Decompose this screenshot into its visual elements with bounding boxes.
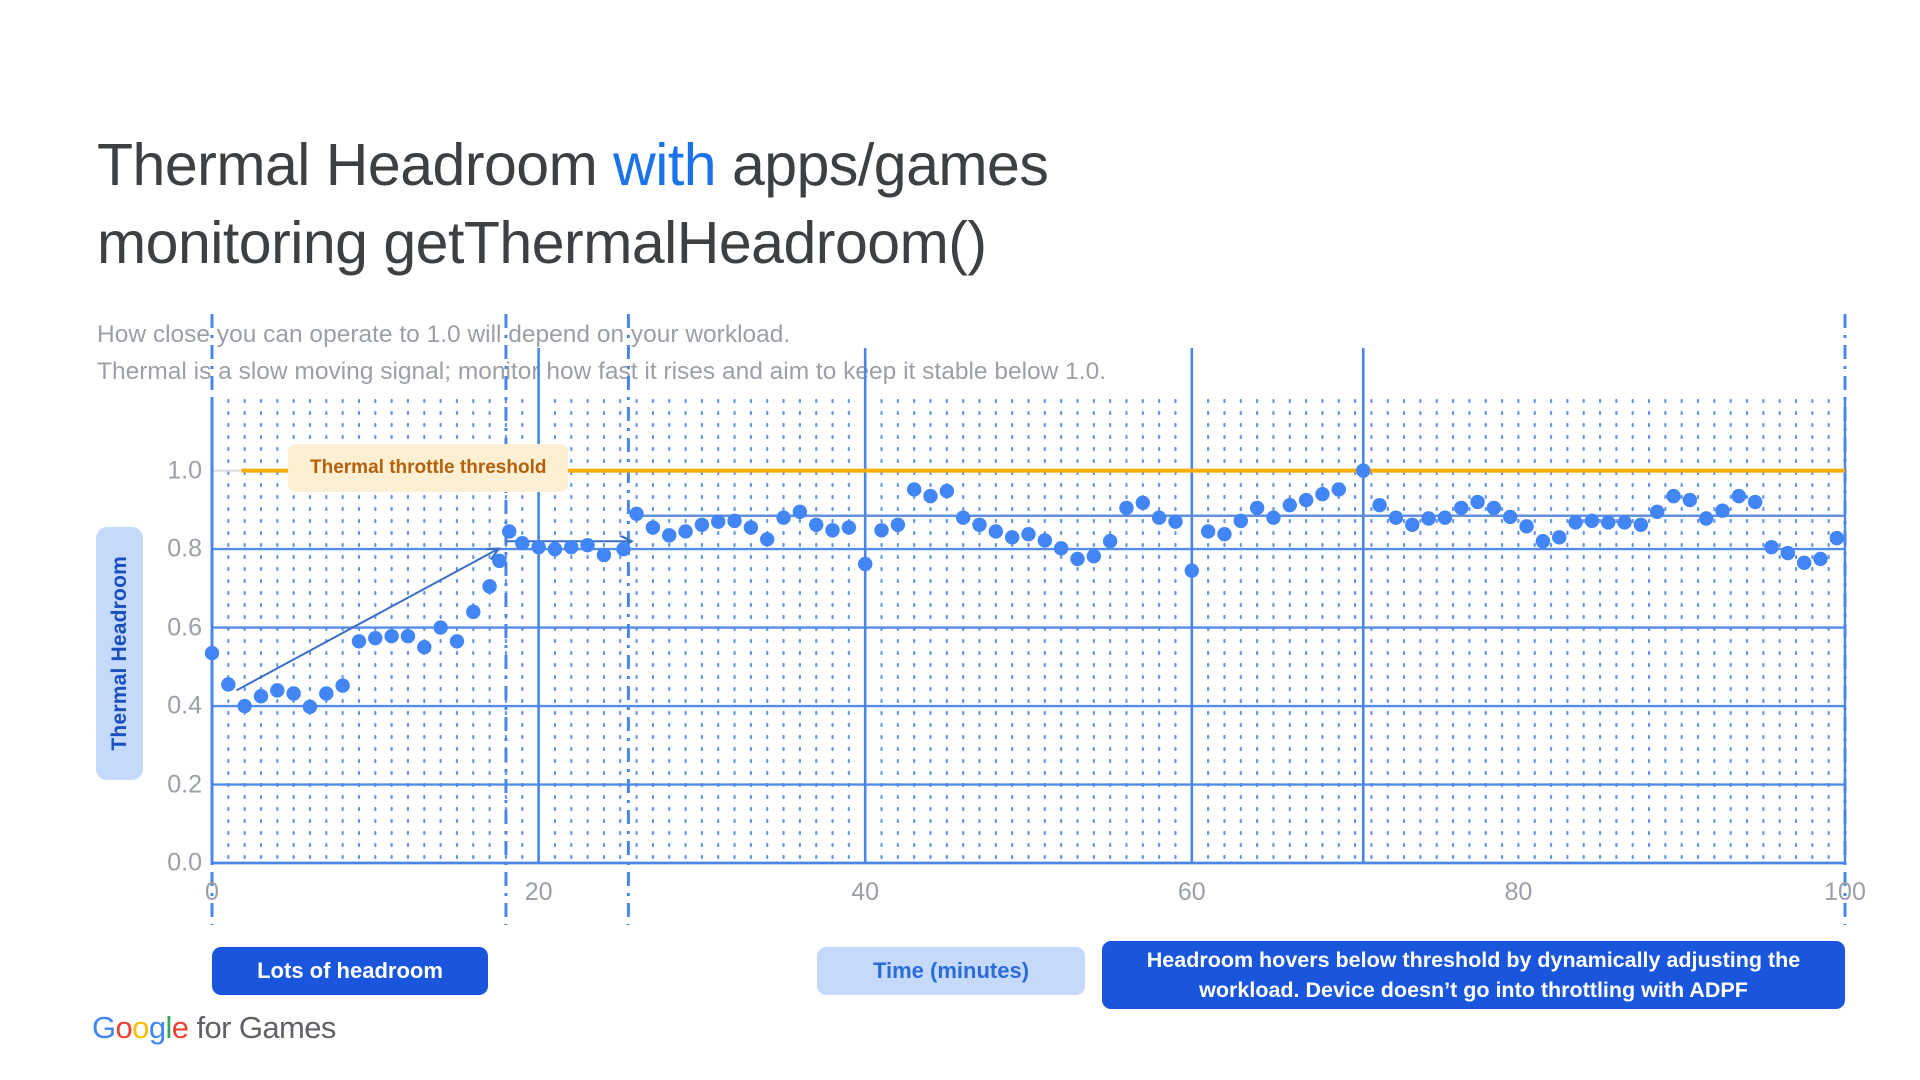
y-axis-tick-labels: 0.00.20.40.60.81.0 <box>130 400 202 863</box>
title-part1: Thermal Headroom <box>97 132 613 198</box>
x-axis-tick-20: 20 <box>525 878 553 907</box>
title-part2: apps/games <box>716 132 1048 198</box>
y-axis-tick-0.2: 0.2 <box>142 770 202 799</box>
subtitle-line-1: How close you can operate to 1.0 will de… <box>97 316 1106 353</box>
subtitle-line-2: Thermal is a slow moving signal; monitor… <box>97 353 1106 390</box>
callout-headroom-hovers: Headroom hovers below threshold by dynam… <box>1102 941 1845 1009</box>
x-axis-tick-60: 60 <box>1178 878 1206 907</box>
y-axis-tick-0.6: 0.6 <box>142 613 202 642</box>
x-axis-tick-labels: 020406080100 <box>212 878 1845 912</box>
logo-letter-e: e <box>172 1010 189 1045</box>
callout-left-text: Lots of headroom <box>257 958 443 984</box>
page-title: Thermal Headroom with apps/games monitor… <box>97 126 1297 282</box>
subtitle: How close you can operate to 1.0 will de… <box>97 316 1106 390</box>
callout-right-text: Headroom hovers below threshold by dynam… <box>1118 945 1829 1005</box>
title-accent: with <box>613 132 716 198</box>
x-axis-tick-0: 0 <box>205 878 219 907</box>
logo-letter-o1: o <box>116 1010 133 1045</box>
logo-letter-o2: o <box>132 1010 149 1045</box>
y-axis-label-text: Thermal Headroom <box>108 556 132 751</box>
y-axis-tick-1.0: 1.0 <box>142 456 202 485</box>
callout-lots-of-headroom: Lots of headroom <box>212 947 488 995</box>
google-for-games-logo: Google for Games <box>92 1010 336 1046</box>
y-axis-tick-0.8: 0.8 <box>142 535 202 564</box>
y-axis-tick-0.0: 0.0 <box>142 849 202 878</box>
logo-suffix: for Games <box>188 1010 335 1045</box>
x-axis-tick-80: 80 <box>1504 878 1532 907</box>
y-axis-tick-0.4: 0.4 <box>142 692 202 721</box>
x-axis-label-pill: Time (minutes) <box>817 947 1085 995</box>
x-axis-label-text: Time (minutes) <box>873 958 1029 984</box>
x-axis-tick-40: 40 <box>851 878 879 907</box>
logo-letter-g: G <box>92 1010 116 1045</box>
logo-letter-g2: g <box>149 1010 166 1045</box>
slide-root: Thermal Headroom with apps/games monitor… <box>0 0 1920 1080</box>
x-axis-tick-100: 100 <box>1824 878 1866 907</box>
title-line2: monitoring getThermalHeadroom() <box>97 210 987 276</box>
threshold-badge-text: Thermal throttle threshold <box>310 457 546 479</box>
threshold-badge: Thermal throttle threshold <box>288 444 568 492</box>
